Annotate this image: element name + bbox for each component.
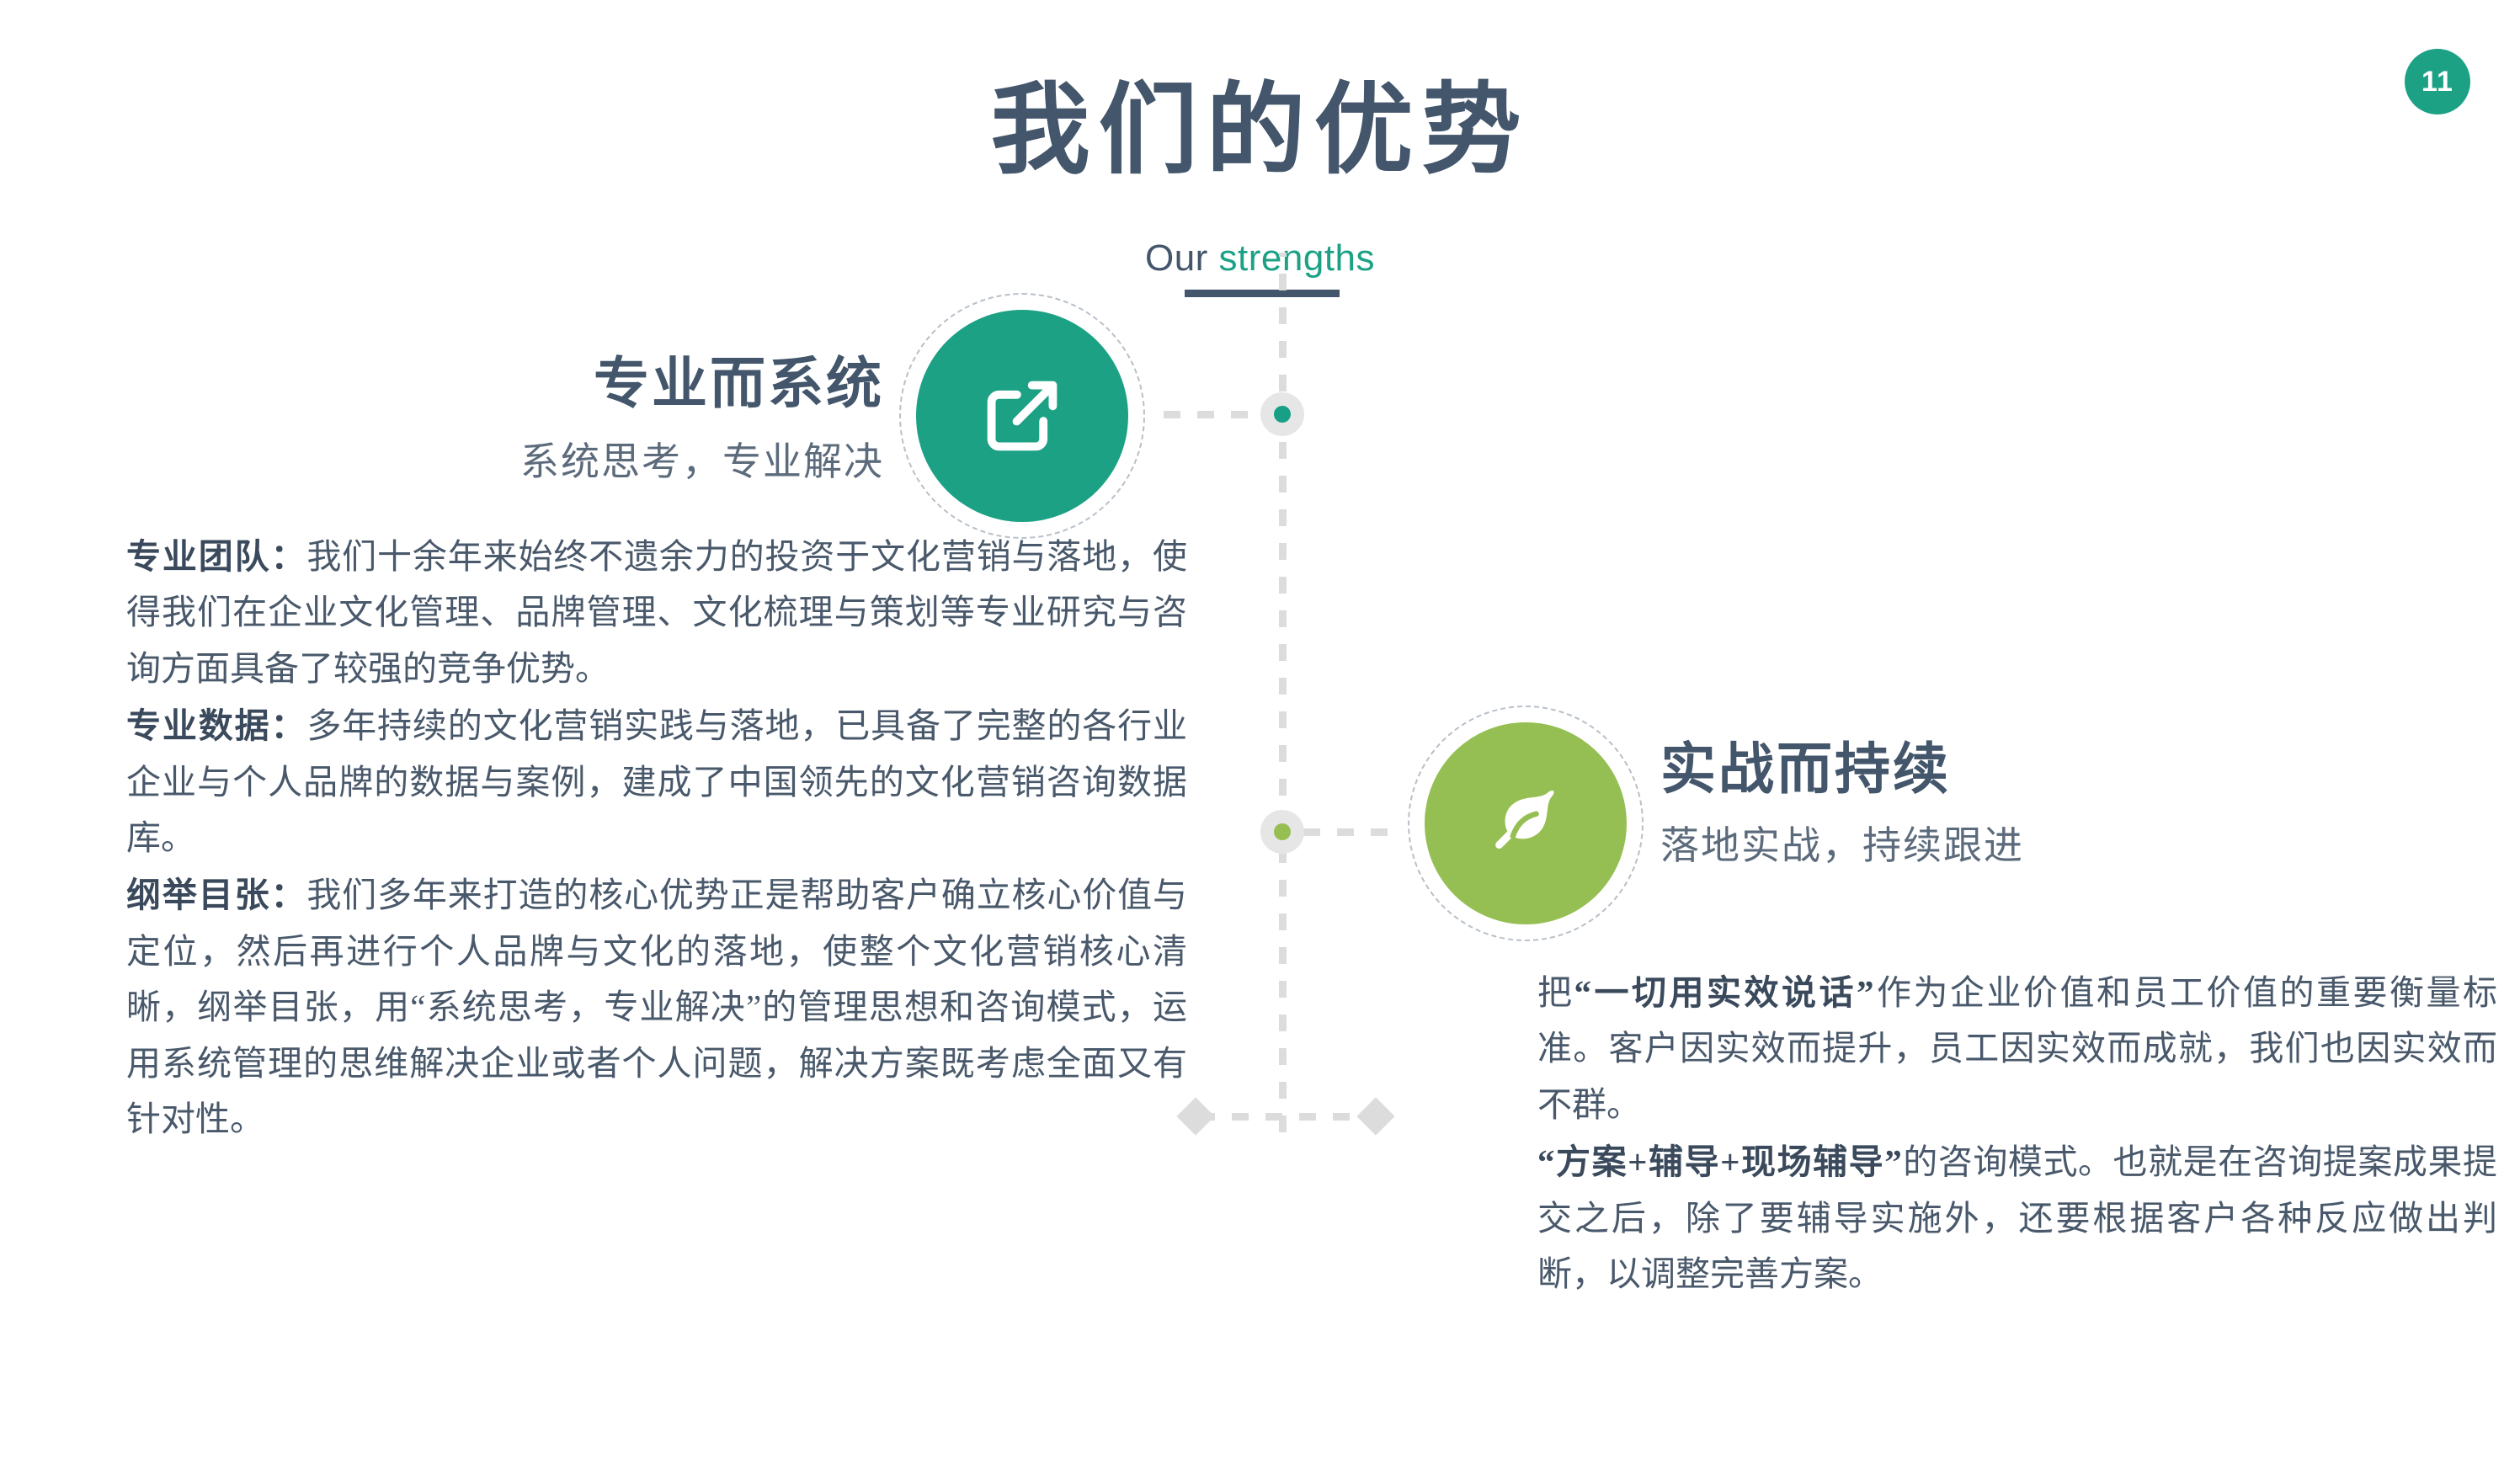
right-subtitle: 落地实战，持续跟进: [1660, 815, 2460, 871]
icon-bubble-left: [916, 310, 1128, 522]
timeline-node-dot: [1274, 406, 1291, 423]
left-heading: 专业而系统: [84, 338, 884, 419]
left-body-text: 专业团队：我们十余年来始终不遗余力的投资于文化营销与落地，使得我们在企业文化管理…: [126, 529, 1187, 1148]
external-link-icon: [975, 369, 1069, 463]
right-body-text: 把“一切用实效说话”作为企业价值和员工价值的重要衡量标准。客户因实效而提升，员工…: [1537, 965, 2497, 1303]
right-paragraph-1-lead: “一切用实效说话”: [1574, 973, 1875, 1012]
timeline-node-practical: [1260, 810, 1304, 854]
page-title: 我们的优势: [0, 74, 2520, 189]
subtitle-en-highlight: strengths: [1219, 237, 1375, 279]
subtitle-en-prefix: Our: [1145, 237, 1219, 279]
timeline-spine: [1279, 253, 1287, 1137]
left-paragraph-3-text: 我们多年来打造的核心优势正是帮助客户确立核心价值与定位，然后再进行个人品牌与文化…: [126, 876, 1187, 1138]
right-paragraph-1-prefix: 把: [1537, 973, 1574, 1012]
left-paragraph-3-lead: 纲举目张：: [126, 876, 306, 914]
timeline-node-professional: [1260, 392, 1304, 436]
right-heading: 实战而持续: [1660, 724, 2460, 805]
left-subtitle: 系统思考，专业解决: [84, 431, 884, 487]
slide-canvas: 11 我们的优势 Our strengths: [0, 0, 2520, 1459]
diamond-marker-right: [1356, 1097, 1394, 1135]
right-paragraph-2: “方案+辅导+现场辅导”的咨询模式。也就是在咨询提案成果提交之后，除了要辅导实施…: [1537, 1134, 2497, 1302]
left-paragraph-1-lead: 专业团队：: [126, 537, 306, 576]
left-paragraph-2-lead: 专业数据：: [126, 706, 306, 745]
title-underline-rule: [1185, 290, 1340, 297]
left-paragraph-1: 专业团队：我们十余年来始终不遗余力的投资于文化营销与落地，使得我们在企业文化管理…: [126, 529, 1187, 696]
left-paragraph-2: 专业数据：多年持续的文化营销实践与落地，已具备了完整的各行业企业与个人品牌的数据…: [126, 698, 1187, 865]
right-paragraph-2-lead: “方案+辅导+现场辅导”: [1537, 1142, 1903, 1181]
icon-bubble-right: [1425, 722, 1627, 924]
timeline-node-dot: [1274, 823, 1291, 840]
page-subtitle-en: Our strengths: [0, 237, 2520, 280]
timeline-bottom-rail: [1194, 1113, 1371, 1121]
connector-left: [1164, 411, 1265, 418]
right-paragraph-1: 把“一切用实效说话”作为企业价值和员工价值的重要衡量标准。客户因实效而提升，员工…: [1537, 965, 2497, 1132]
leaf-icon: [1482, 780, 1569, 867]
connector-right: [1303, 828, 1404, 836]
left-paragraph-3: 纲举目张：我们多年来打造的核心优势正是帮助客户确立核心价值与定位，然后再进行个人…: [126, 867, 1187, 1147]
